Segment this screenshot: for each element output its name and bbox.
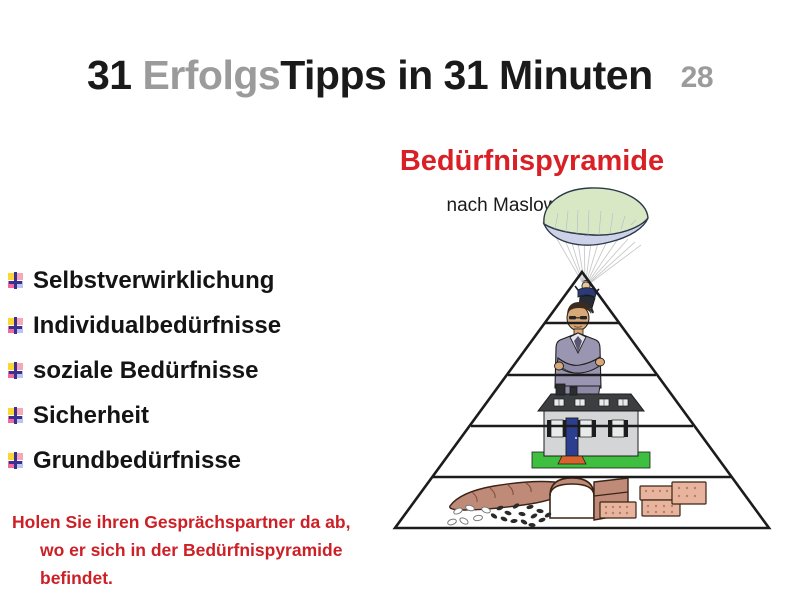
bread-icon [447, 478, 706, 527]
need-label-soziale-beduerfnisse: soziale Bedürfnisse [33, 357, 258, 385]
slide-page-number: 28 [681, 61, 713, 94]
need-label-grundbeduerfnisse: Grundbedürfnisse [33, 447, 241, 475]
caption-text: Holen Sie ihren Gesprächspartner da ab, … [12, 508, 412, 592]
title-part-erfolgs: Erfolgs [142, 52, 280, 98]
need-label-sicherheit: Sicherheit [33, 402, 149, 430]
pyramid-heading: Bedürfnispyramide [372, 145, 692, 178]
caption-line-1: Holen Sie ihren Gesprächspartner da ab, [12, 512, 350, 532]
need-label-individualbeduerfnisse: Individualbedürfnisse [33, 312, 281, 340]
parachutist-icon [544, 188, 648, 313]
title-part-rest: Tipps in 31 Minuten [280, 52, 652, 98]
list-item: soziale Bedürfnisse [8, 348, 368, 393]
maslow-pyramid-graphic [372, 180, 792, 550]
needs-list: Selbstverwirklichung Individualbedürfnis… [8, 258, 368, 483]
list-item: Sicherheit [8, 393, 368, 438]
four-color-cross-bullet-icon [8, 408, 23, 423]
caption-line-3: befindet. [12, 564, 412, 592]
four-color-cross-bullet-icon [8, 318, 23, 333]
title-part-count: 31 [87, 52, 143, 98]
slide-title: 31 ErfolgsTipps in 31 Minuten28 [0, 52, 800, 99]
list-item: Selbstverwirklichung [8, 258, 368, 303]
four-color-cross-bullet-icon [8, 273, 23, 288]
four-color-cross-bullet-icon [8, 363, 23, 378]
four-color-cross-bullet-icon [8, 453, 23, 468]
list-item: Grundbedürfnisse [8, 438, 368, 483]
list-item: Individualbedürfnisse [8, 303, 368, 348]
caption-line-2: wo er sich in der Bedürfnispyramide [12, 536, 412, 564]
need-label-selbstverwirklichung: Selbstverwirklichung [33, 267, 274, 295]
